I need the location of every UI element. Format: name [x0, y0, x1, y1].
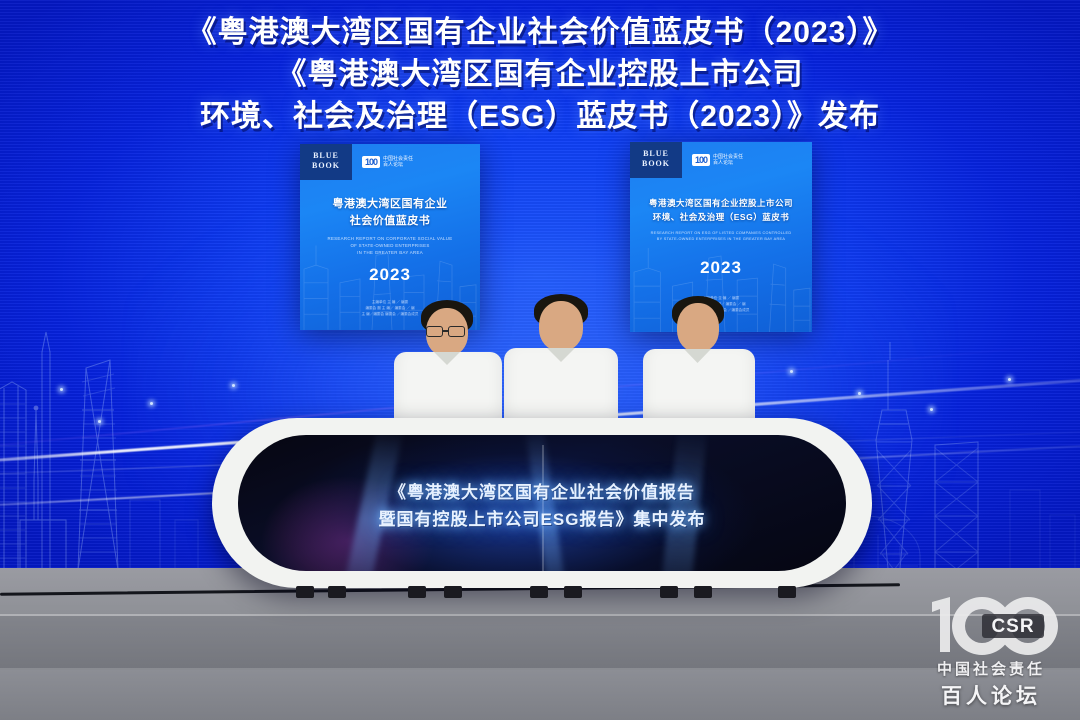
book-title-line-2: 环境、社会及治理（ESG）蓝皮书: [630, 210, 812, 224]
podium-text-line-2: 暨国有控股上市公司ESG报告》集中发布: [238, 506, 846, 533]
backdrop-sparkle: [98, 420, 101, 423]
event-headline: 《粤港澳大湾区国有企业社会价值蓝皮书（2023）》 《粤港澳大湾区国有企业控股上…: [0, 12, 1080, 138]
podium-led-screen: 《粤港澳大湾区国有企业社会价值报告 暨国有控股上市公司ESG报告》集中发布: [238, 435, 846, 571]
stage-scene: 《粤港澳大湾区国有企业社会价值蓝皮书（2023）》 《粤港澳大湾区国有企业控股上…: [0, 0, 1080, 720]
logo-100-csr-mark: CSR: [916, 596, 1066, 658]
presenter-head: [677, 303, 719, 352]
presenter-center: [500, 294, 622, 430]
book-subtitle-line-1: RESEARCH REPORT ON CORPORATE SOCIAL VALU…: [300, 235, 480, 242]
podium-caster: [444, 586, 462, 598]
podium-caster: [660, 586, 678, 598]
book-subtitle-line-2: BY STATE-OWNED ENTERPRISES IN THE GREATE…: [630, 236, 812, 242]
blue-book-badge: BLUEBOOK: [630, 142, 682, 178]
backdrop-sparkle: [1008, 378, 1011, 381]
logo-100-graphic: CSR: [916, 596, 1066, 658]
logo-csr-abbr: CSR: [991, 616, 1034, 637]
backdrop-sparkle: [930, 408, 933, 411]
glasses-bridge: [443, 330, 449, 332]
backdrop-sparkle: [232, 384, 235, 387]
podium-caster: [408, 586, 426, 598]
book-title-block: 粤港澳大湾区国有企业 社会价值蓝皮书 RESEARCH REPORT ON CO…: [300, 196, 480, 317]
book-subtitle-line-3: IN THE GREATER BAY AREA: [300, 249, 480, 256]
book-cover-header: BLUEBOOK 100 中国社会责任 百人论坛: [300, 144, 480, 180]
podium-text-line-1: 《粤港澳大湾区国有企业社会价值报告: [238, 479, 846, 506]
presenter-left: [388, 300, 508, 430]
backdrop-sparkle: [150, 402, 153, 405]
csr-logo-line-2: 百人论坛: [713, 160, 733, 166]
logo-text-line-1: 中国社会责任: [916, 658, 1066, 679]
csr-forum-corner-logo: CSR 中国社会责任 百人论坛: [916, 596, 1066, 708]
headline-line-3: 环境、社会及治理（ESG）蓝皮书（2023）》发布: [0, 96, 1080, 138]
backdrop-sparkle: [858, 392, 861, 395]
glasses-icon: [448, 326, 465, 337]
blue-book-badge: BLUEBOOK: [300, 144, 352, 180]
glasses-icon: [426, 326, 443, 337]
backdrop-sparkle: [60, 388, 63, 391]
csr-logo-mark: 100: [362, 156, 380, 168]
csr-logo-text: 中国社会责任 百人论坛: [713, 154, 743, 166]
book-year: 2023: [300, 265, 480, 285]
podium-caster: [694, 586, 712, 598]
book-title-line-2: 社会价值蓝皮书: [300, 213, 480, 230]
backdrop-sparkle: [790, 370, 793, 373]
presenter-head: [539, 301, 583, 351]
presenter-right: [638, 296, 760, 430]
csr-logo-text: 中国社会责任 百人论坛: [383, 156, 413, 168]
podium-caster: [296, 586, 314, 598]
logo-text-line-2: 百人论坛: [916, 680, 1066, 710]
podium-announcement-text: 《粤港澳大湾区国有企业社会价值报告 暨国有控股上市公司ESG报告》集中发布: [238, 479, 846, 533]
book-title-line-1: 粤港澳大湾区国有企业控股上市公司: [630, 196, 812, 210]
headline-line-2: 《粤港澳大湾区国有企业控股上市公司: [0, 54, 1080, 96]
headline-line-1: 《粤港澳大湾区国有企业社会价值蓝皮书（2023）》: [0, 12, 1080, 54]
book-year: 2023: [630, 258, 812, 278]
csr-logo-line-2: 百人论坛: [383, 162, 403, 168]
podium-caster: [530, 586, 548, 598]
podium-caster: [564, 586, 582, 598]
book-cover-csr-logo: 100 中国社会责任 百人论坛: [692, 154, 743, 166]
book-title-line-1: 粤港澳大湾区国有企业: [300, 196, 480, 213]
podium-caster: [778, 586, 796, 598]
podium-caster: [328, 586, 346, 598]
podium-led-console: 《粤港澳大湾区国有企业社会价值报告 暨国有控股上市公司ESG报告》集中发布: [212, 418, 872, 588]
book-cover-csr-logo: 100 中国社会责任 百人论坛: [362, 156, 413, 168]
book-cover-header: BLUEBOOK 100 中国社会责任 百人论坛: [630, 142, 812, 178]
book-subtitle-line-2: OF STATE-OWNED ENTERPRISES: [300, 242, 480, 249]
csr-logo-mark: 100: [692, 154, 710, 166]
